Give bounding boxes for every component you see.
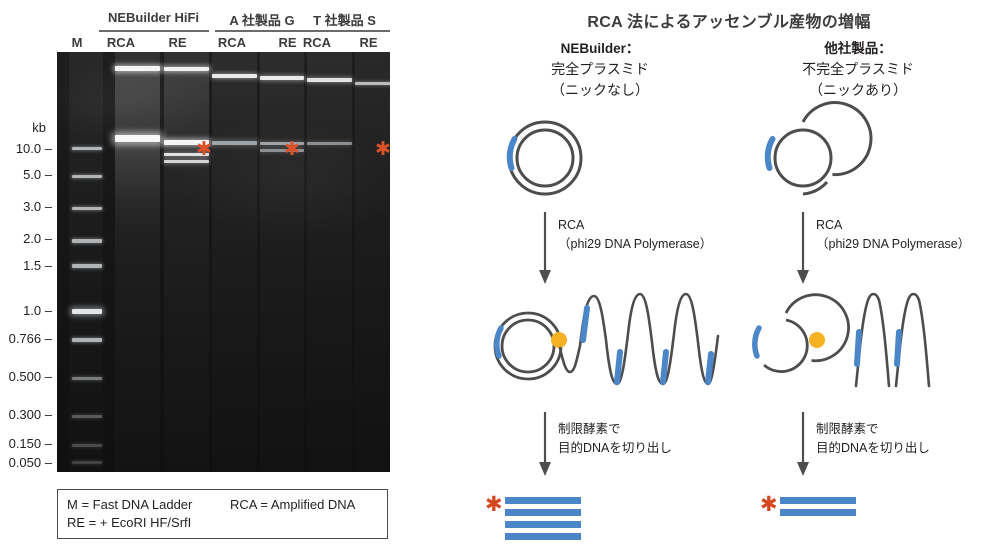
ladder-band-1-0 [72,309,102,314]
gel-asterisk-a-company: ✱ [284,140,300,159]
gel-legend-box: M = Fast DNA Ladder RCA = Amplified DNA … [57,489,388,539]
column-heading-name-nebuilder: NEBuilder： [470,38,730,59]
gel-group-rule-a-company [215,30,310,32]
gel-well-band [260,76,304,80]
rca-arrow-label-other: RCA （phi29 DNA Polymerase） [816,216,970,254]
ladder-tick-0-766: 0.766 – [0,331,52,346]
ladder-tick-value: 0.050 [9,455,42,470]
short-product-insert-1 [857,332,859,364]
restriction-arrow-label-other: 制限酵素で 目的DNAを切り出し [816,420,930,458]
gel-lane-label-nebuilder-rca: RCA [102,35,140,50]
ladder-band-10-0 [72,147,102,150]
gel-lane-label-a-rca: RCA [213,35,251,50]
gel-well-band [355,82,390,85]
plasmid-inner-ring [517,130,573,186]
gel-group-label-nebuilder: NEBuilder HiFi [96,10,211,25]
ladder-tick-3-0: 3.0 – [0,199,52,214]
ladder-tick-0-050: 0.050 – [0,455,52,470]
gel-group-label-t-company: T 社製品 S [297,10,392,29]
phi29-polymerase-icon [551,332,567,348]
ladder-tick-value: 0.300 [9,407,42,422]
gel-axis-title-kb: kb [0,120,46,135]
tick-dash: – [45,455,52,470]
ladder-tick-value: 5.0 [23,167,41,182]
restriction-label-line2: 目的DNAを切り出し [558,439,672,458]
gel-lane-t-re [355,52,390,472]
ladder-tick-5-0: 5.0 – [0,167,52,182]
column-heading-other: 他社製品： 不完全プラスミド （ニックあり） [728,38,988,101]
plasmid-intact-nebuilder [470,110,730,210]
rca-label-line1: RCA [816,216,970,235]
tick-dash: – [45,231,52,246]
phi29-polymerase-icon [809,332,825,348]
column-heading-line3-nebuilder: （ニックなし） [470,80,730,101]
rca-plasmid-insert [497,328,501,356]
legend-rca-definition: RCA = Amplified DNA [230,497,355,512]
column-heading-line2-nebuilder: 完全プラスミド [470,59,730,80]
legend-marker-definition: M = Fast DNA Ladder [67,497,192,512]
ladder-tick-value: 0.150 [9,436,42,451]
tick-dash: – [45,331,52,346]
rca-plasmid-outer-ring [495,313,561,379]
gel-band-nebuilder-rca [115,135,160,142]
ladder-band-2-0 [72,239,102,243]
ladder-band-0-500 [72,377,102,380]
gel-lane-a-rca [212,52,257,472]
ladder-tick-10-0: 10.0 – [0,141,52,156]
ladder-band-0-050 [72,461,102,464]
plasmid-nicked-other [728,110,988,210]
rca-plasmid-inner-nicked [764,320,807,372]
arrow-head-icon [539,270,551,284]
gel-well-band [307,78,352,82]
product-band [780,497,856,504]
gel-smear [115,143,160,243]
gel-asterisk-t-company: ✱ [375,140,391,159]
tick-dash: – [45,258,52,273]
column-heading-name-other: 他社製品： [728,38,988,59]
plasmid-outer-ring [509,122,581,194]
gel-smear [164,71,209,191]
rca-label-line1: RCA [558,216,712,235]
ladder-tick-value: 1.0 [23,303,41,318]
restriction-label-line2: 目的DNAを切り出し [816,439,930,458]
concatemer-insert-1 [583,308,587,340]
arrow-head-icon [539,462,551,476]
column-heading-line2-other: 不完全プラスミド [728,59,988,80]
ladder-tick-0-500: 0.500 – [0,369,52,384]
legend-re-definition: RE = + EcoRI HF/SrfI [67,515,191,530]
ladder-band-0-150 [72,444,102,447]
tick-dash: – [45,436,52,451]
restriction-label-line1: 制限酵素で [558,420,672,439]
gel-group-rule-nebuilder [99,30,209,32]
short-product-insert-2 [897,332,899,364]
ladder-band-1-5 [72,264,102,268]
gel-group-rule-t-company [300,30,390,32]
gel-asterisk-nebuilder: ✱ [196,140,212,159]
plasmid-outer-ring-nicked [803,103,871,175]
tick-dash: – [45,199,52,214]
ladder-band-0-766 [72,338,102,342]
gel-band-nebuilder-re-3 [164,160,209,163]
column-heading-line3-other: （ニックあり） [728,80,988,101]
product-band [505,521,581,528]
column-heading-nebuilder: NEBuilder： 完全プラスミド （ニックなし） [470,38,730,101]
rca-workflow-diagram-panel: RCA 法によるアッセンブル産物の増幅 NEBuilder： 完全プラスミド （… [470,0,988,553]
arrow-head-icon [797,462,809,476]
gel-band-t-rca [307,142,352,145]
plasmid-insert-segment [510,139,515,168]
rca-label-line2: （phi29 DNA Polymerase） [816,235,970,254]
gel-lane-t-rca [307,52,352,472]
product-band [505,497,581,504]
restriction-label-line1: 制限酵素で [816,420,930,439]
concatemer-insert-4 [708,354,711,382]
gel-image [57,52,390,472]
ladder-tick-value: 3.0 [23,199,41,214]
product-band [505,533,581,540]
ladder-tick-0-150: 0.150 – [0,436,52,451]
gel-lane-label-t-re: RE [351,35,386,50]
rca-product-other [728,288,988,390]
rca-label-line2: （phi29 DNA Polymerase） [558,235,712,254]
gel-lane-label-nebuilder-re: RE [160,35,195,50]
ladder-tick-value: 1.5 [23,258,41,273]
product-band [780,509,856,516]
gel-lane-a-re [260,52,304,472]
ladder-tick-value: 0.766 [9,331,42,346]
ladder-band-0-300 [72,415,102,418]
tick-dash: – [45,141,52,156]
gel-lane-label-marker: M [62,35,92,50]
gel-well-band [212,74,257,78]
ladder-band-3-0 [72,207,102,210]
gel-lane-marker [69,52,103,472]
gel-band-a-rca [212,141,257,145]
ladder-tick-1-5: 1.5 – [0,258,52,273]
product-asterisk-nebuilder: ✱ [485,494,503,515]
ladder-tick-value: 0.500 [9,369,42,384]
ladder-band-5-0 [72,175,102,178]
rca-arrow-label-nebuilder: RCA （phi29 DNA Polymerase） [558,216,712,254]
ladder-tick-2-0: 2.0 – [0,231,52,246]
rca-plasmid-insert [755,328,759,356]
tick-dash: – [45,303,52,318]
restriction-arrow-label-nebuilder: 制限酵素で 目的DNAを切り出し [558,420,672,458]
gel-lane-label-t-rca: RCA [298,35,336,50]
tick-dash: – [45,407,52,422]
plasmid-inner-ring [775,130,831,186]
ladder-tick-1-0: 1.0 – [0,303,52,318]
product-asterisk-other: ✱ [760,494,778,515]
plasmid-insert-segment [768,139,773,168]
diagram-title: RCA 法によるアッセンブル産物の増幅 [470,8,988,32]
gel-electrophoresis-panel: NEBuilder HiFi A 社製品 G T 社製品 S M RCA RE … [0,0,470,553]
arrow-head-icon [797,270,809,284]
concatemer-insert-3 [663,352,666,382]
rca-plasmid-outer-nicked [786,295,849,361]
product-band [505,509,581,516]
tick-dash: – [45,167,52,182]
rca-plasmid-inner-ring [502,320,554,372]
tick-dash: – [45,369,52,384]
concatemer-insert-2 [617,352,620,382]
ladder-tick-0-300: 0.300 – [0,407,52,422]
ladder-tick-value: 10.0 [16,141,41,156]
ladder-tick-value: 2.0 [23,231,41,246]
rca-product-nebuilder [470,288,740,390]
